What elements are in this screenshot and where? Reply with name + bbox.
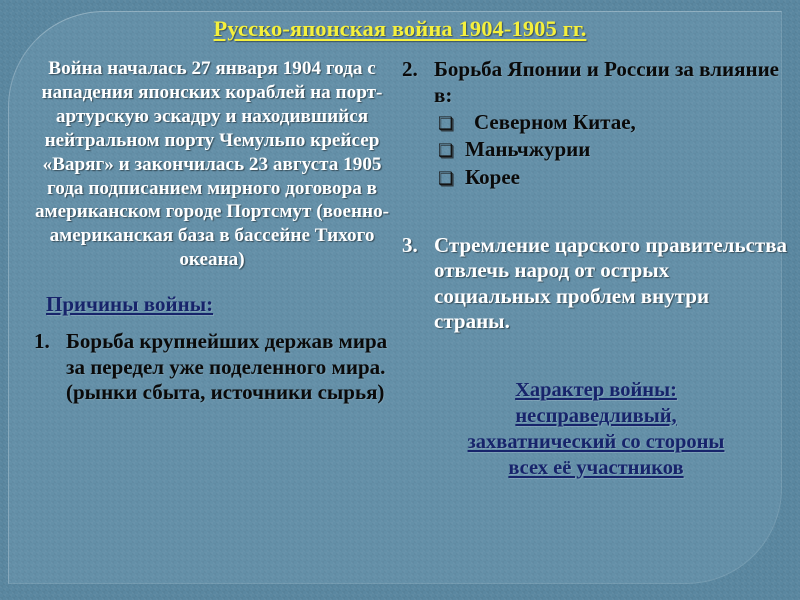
list-item-text: Стремление царского правительства отвлеч… [434,233,788,335]
left-column: Война началась 27 января 1904 года с нап… [28,57,396,406]
list-item: 2. Борьба Японии и России за влияние в: [396,57,788,108]
list-item-marker: 2. [396,57,434,83]
list-item-label: Корее [465,164,788,191]
list-item-label: Северном Китае, [465,109,788,136]
checkbox-square-icon: ❑ [438,143,465,160]
list-item-text: Борьба Японии и России за влияние в: [434,57,788,108]
list-item: ❑ Северном Китае, [438,109,788,136]
list-item: 1. Борьба крупнейших держав мира за пере… [28,329,396,406]
right-column: 2. Борьба Японии и России за влияние в: … [396,57,788,481]
list-item-marker: 1. [28,329,66,355]
conclusion-line-3: захватнический со стороны [418,429,774,455]
causes-heading: Причины войны: [28,292,396,317]
checkbox-square-icon: ❑ [438,116,465,133]
list-item: ❑ Маньчжурии [438,136,788,163]
list-item: ❑ Корее [438,164,788,191]
conclusion-block: Характер войны: несправедливый, захватни… [396,377,788,481]
conclusion-line-4: всех её участников [418,455,774,481]
list-item: 3. Стремление царского правительства отв… [396,233,788,335]
list-item-label: Маньчжурии [465,136,788,163]
conclusion-line-1: Характер войны: [418,377,774,403]
list-item-text: Борьба крупнейших держав мира за передел… [66,329,396,406]
conclusion-line-2: несправедливый, [418,403,774,429]
influence-regions-list: ❑ Северном Китае, ❑ Маньчжурии ❑ Корее [396,109,788,191]
list-item-marker: 3. [396,233,434,259]
causes-list-left: 1. Борьба крупнейших держав мира за пере… [28,329,396,406]
intro-paragraph: Война началась 27 января 1904 года с нап… [28,57,396,272]
checkbox-square-icon: ❑ [438,171,465,188]
page-title: Русско-японская война 1904-1905 гг. [0,16,800,42]
